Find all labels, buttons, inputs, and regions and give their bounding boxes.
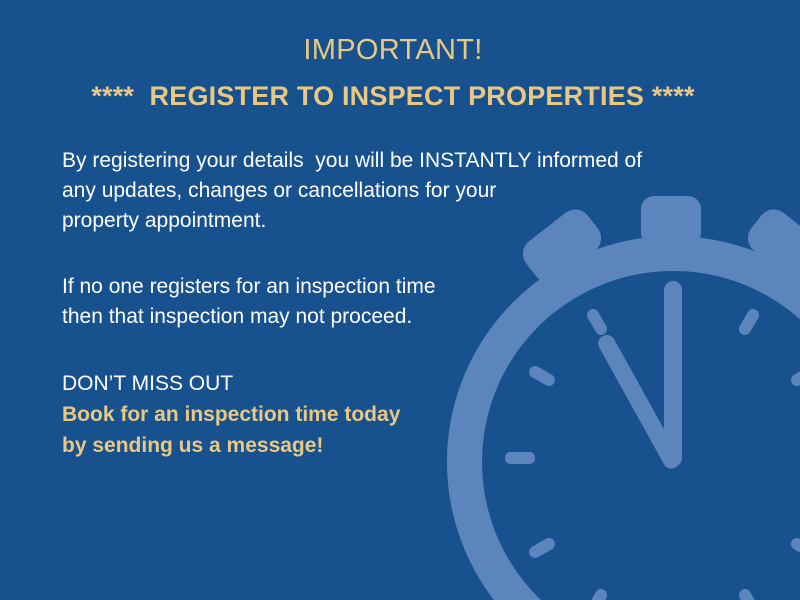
paragraph-no-registration-warning: If no one registers for an inspection ti… xyxy=(62,272,722,332)
cta-line-dont-miss-out: DON’T MISS OUT xyxy=(62,368,722,399)
slide-content: IMPORTANT! **** REGISTER TO INSPECT PROP… xyxy=(0,0,800,600)
paragraph1-line2: any updates, changes or cancellations fo… xyxy=(62,176,722,206)
paragraph2-line2: then that inspection may not proceed. xyxy=(62,302,722,332)
paragraph-call-to-action: DON’T MISS OUT Book for an inspection ti… xyxy=(62,368,722,461)
headline-secondary: **** REGISTER TO INSPECT PROPERTIES **** xyxy=(0,76,786,116)
cta-line-send-message: by sending us a message! xyxy=(62,430,722,461)
promotional-slide: IMPORTANT! **** REGISTER TO INSPECT PROP… xyxy=(0,0,800,600)
cta-line-book-inspection: Book for an inspection time today xyxy=(62,399,722,430)
paragraph2-line1: If no one registers for an inspection ti… xyxy=(62,272,722,302)
headline-primary: IMPORTANT! xyxy=(0,30,786,70)
paragraph-registration-benefit: By registering your details you will be … xyxy=(62,146,722,236)
body-copy: By registering your details you will be … xyxy=(62,146,722,461)
paragraph1-line3: property appointment. xyxy=(62,206,722,236)
headline-block: IMPORTANT! **** REGISTER TO INSPECT PROP… xyxy=(0,30,786,116)
paragraph1-line1: By registering your details you will be … xyxy=(62,146,722,176)
